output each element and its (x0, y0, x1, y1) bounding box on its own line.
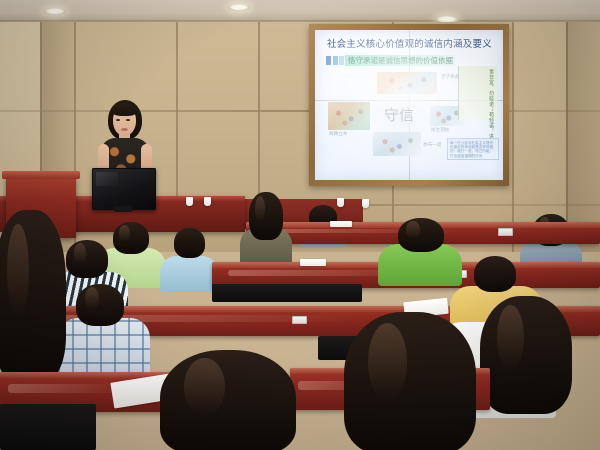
student-dark-hair-left (0, 210, 66, 380)
student-foreground-right (344, 312, 476, 450)
student-hair (344, 312, 476, 450)
student-hair (398, 218, 444, 252)
desk-paper (300, 259, 326, 266)
slide-banner: 恪守承诺是诚信思想的价值依据 (345, 55, 455, 66)
slide-banner-text: 恪守承诺是诚信思想的价值依据 (348, 55, 453, 66)
slide-bullet-blocks (326, 56, 344, 65)
wall-seam (512, 22, 514, 252)
student-ponytail-mid (238, 192, 294, 262)
monitor-stand (114, 206, 132, 212)
presenter-monitor (92, 168, 156, 210)
water-cup (186, 197, 193, 206)
slide-quote-box: 事非宜，勿轻诺；苟轻诺，进退错 (458, 66, 497, 120)
wall-seam-horizontal (0, 110, 600, 112)
ceiling (0, 0, 600, 22)
slide-center-calligraphy: 守信 (375, 102, 423, 128)
water-cup (362, 199, 369, 208)
slide-title: 社会主义核心价值观的诚信内涵及要义 (327, 39, 497, 50)
student-hair (160, 350, 296, 450)
seat-cushion (212, 284, 362, 302)
slide-note-box: 每一位公民对社会主义现代化建设的承诺就是这样体现的：践行一诺，尽己所能，付出诚信… (447, 138, 499, 160)
lecture-hall-photo: 社会主义核心价值观的诚信内涵及要义 恪守承诺是诚信思想的价值依据 守信 曾子杀彘… (0, 0, 600, 450)
presenter-mouth (121, 128, 128, 131)
student-torso (160, 256, 218, 292)
seat-number-plate (498, 228, 513, 236)
slide-quadrant-label-left: 商鞅立木 (329, 131, 347, 137)
student-hair (474, 256, 516, 292)
student-plaid-shirt (58, 284, 150, 376)
seat-number-plate (292, 316, 307, 324)
student-blue-shirt (160, 228, 218, 290)
slide-quadrant-label-top: 曾子杀彘 (441, 74, 459, 80)
student-hair (0, 210, 66, 380)
podium-top (2, 171, 80, 179)
presenter-fringe (111, 103, 138, 116)
student-foreground-center (160, 350, 296, 450)
slide-note-text: 每一位公民对社会主义现代化建设的承诺就是这样体现的：践行一诺，尽己所能，付出诚信… (450, 141, 496, 159)
slide-illustration-top (377, 72, 437, 94)
projection-screen-frame: 社会主义核心价值观的诚信内涵及要义 恪守承诺是诚信思想的价值依据 守信 曾子杀彘… (309, 24, 509, 186)
student-torso (58, 318, 150, 378)
slide-quadrant-label-bottom: 季布一诺 (423, 142, 441, 148)
student-hair (480, 296, 572, 414)
presenter-eye-left (116, 119, 120, 121)
projection-screen[interactable]: 社会主义核心价值观的诚信内涵及要义 恪守承诺是诚信思想的价值依据 守信 曾子杀彘… (315, 30, 503, 180)
monitor-glare (96, 172, 118, 186)
seat-cushion-foreground (0, 404, 96, 450)
water-cup (204, 197, 211, 206)
student-hair (76, 284, 124, 326)
student-hair (249, 192, 283, 240)
slide-quadrant-label-right: 尾生抱柱 (431, 127, 449, 133)
desk-paper (330, 221, 352, 227)
presenter-eye-right (126, 119, 130, 121)
student-hair (174, 228, 205, 258)
ceiling-downlight (44, 8, 66, 15)
ceiling-downlight (228, 4, 250, 11)
student-hair (66, 240, 108, 278)
